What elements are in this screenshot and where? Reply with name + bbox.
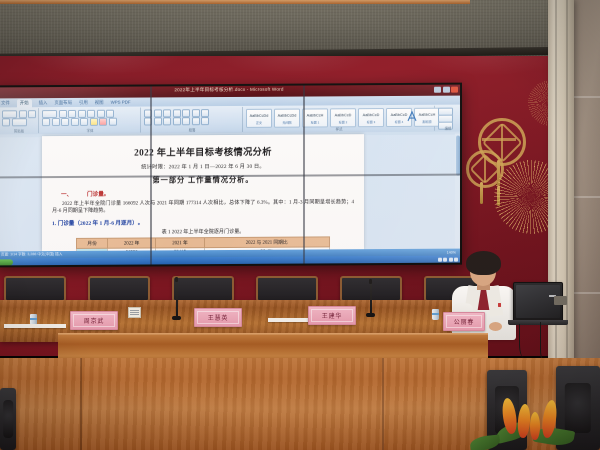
tab-home[interactable]: 开始: [17, 99, 32, 107]
style-preview: AaBbCcD: [331, 113, 355, 117]
conference-chair[interactable]: [88, 276, 150, 302]
vertical-scrollbar[interactable]: [455, 134, 460, 249]
style-name: 无间隔: [275, 120, 299, 124]
tray-volume-icon[interactable]: [443, 257, 447, 261]
start-button[interactable]: [0, 259, 13, 265]
style-preview: AaBbCcH: [303, 113, 327, 117]
conference-chair[interactable]: [4, 276, 66, 302]
document-subtitle: 统计时限：2022 年 1 月 1 日—2022 年 6 月 30 日。: [52, 161, 354, 171]
microphone-gooseneck: [176, 280, 178, 318]
group-label-editing: 编辑: [445, 126, 452, 131]
style-item[interactable]: AaBbCcD 标题 3: [358, 108, 384, 127]
clear-formatting-icon[interactable]: [87, 110, 95, 118]
video-wall[interactable]: 2022年上半年目标考核分析.docx - Microsoft Word 文件 …: [0, 83, 462, 268]
name-placard: 王慧英: [194, 308, 242, 327]
change-styles-icon: [407, 111, 419, 122]
style-name: 标题 3: [359, 120, 383, 124]
col-header-2022: 2022 年: [108, 238, 156, 248]
increase-indent-icon[interactable]: [182, 109, 190, 117]
superscript-icon[interactable]: [71, 118, 79, 126]
shading-icon[interactable]: [192, 117, 200, 125]
tab-references[interactable]: 引用: [79, 99, 88, 105]
col-header-month: 月份: [77, 238, 108, 248]
window-controls[interactable]: [434, 86, 458, 92]
conference-chair[interactable]: [172, 276, 234, 302]
borders-icon[interactable]: [201, 117, 209, 125]
shrink-font-icon[interactable]: [78, 110, 86, 118]
flower-bloom: [530, 412, 540, 440]
knot-tassel: [480, 182, 483, 204]
grow-font-icon[interactable]: [68, 110, 76, 118]
style-item[interactable]: AaBbCcH 标题 1: [302, 108, 328, 127]
group-label-font: 字体: [87, 128, 94, 133]
tray-input-method-icon[interactable]: [449, 257, 453, 261]
multilevel-list-icon[interactable]: [163, 109, 171, 117]
underline-icon[interactable]: [42, 118, 50, 126]
style-preview: AaBbCcDd: [247, 113, 271, 117]
style-name: 标题 2: [331, 120, 355, 124]
style-item[interactable]: AaBbCcDd 正文: [246, 109, 272, 128]
scrollbar-thumb[interactable]: [456, 136, 460, 176]
style-name: 正文: [247, 120, 271, 124]
document-body: 2022 年上半年目标考核情况分析 统计时限：2022 年 1 月 1 日—20…: [52, 143, 354, 259]
align-right-icon[interactable]: [163, 117, 171, 125]
document-papers: [4, 324, 66, 328]
ribbon-group-styles[interactable]: AaBbCcDd 正文 AaBbCcDd 无间隔 AaBbCcH 标题 1 Aa…: [244, 106, 435, 132]
loudspeaker: [0, 388, 16, 450]
subscript-icon[interactable]: [61, 118, 69, 126]
ribbon[interactable]: 剪贴板: [0, 105, 460, 136]
placard-name: 周京武: [84, 316, 104, 325]
close-icon[interactable]: [451, 86, 458, 92]
group-label-styles: 样式: [336, 126, 343, 131]
conference-room-photo: 2022年上半年目标考核分析.docx - Microsoft Word 文件 …: [0, 0, 600, 450]
document-section-heading: 一、 门诊量。: [52, 188, 354, 198]
justify-icon[interactable]: [173, 117, 181, 125]
presenter-hand: [489, 322, 502, 331]
ribbon-group-editing[interactable]: 编辑: [436, 106, 460, 131]
group-label-clipboard: 剪贴板: [14, 128, 24, 133]
document-page[interactable]: 2022 年上半年目标考核情况分析 统计时限：2022 年 1 月 1 日—20…: [42, 134, 364, 251]
font-color-icon[interactable]: [99, 118, 107, 126]
font-family-select[interactable]: [42, 110, 57, 118]
tray-network-icon[interactable]: [438, 257, 442, 261]
ribbon-group-paragraph[interactable]: 段落: [142, 107, 243, 133]
placard-name: 公丽春: [454, 317, 474, 326]
text-effects-icon[interactable]: [109, 118, 117, 126]
strikethrough-icon[interactable]: [52, 118, 60, 126]
tray-clock-icon[interactable]: [454, 257, 458, 261]
tab-file[interactable]: 文件: [1, 100, 10, 106]
tab-view[interactable]: 视图: [95, 99, 104, 105]
zoom-level[interactable]: 140%: [447, 250, 456, 254]
group-label-paragraph: 段落: [189, 127, 196, 132]
font-size-select[interactable]: [59, 110, 67, 118]
show-marks-icon[interactable]: [201, 109, 209, 117]
table-caption: 表 1 2022 年上半年全院逐月门诊量。: [52, 227, 354, 236]
placard-name: 王慧英: [208, 313, 228, 322]
video-wall-screen: 2022年上半年目标考核分析.docx - Microsoft Word 文件 …: [0, 85, 460, 266]
microphone-gooseneck: [370, 282, 372, 315]
document-subsection-heading: 1. 门诊量（2022 年 1 月-6 月逐月）。: [52, 217, 354, 227]
format-painter-icon[interactable]: [2, 118, 10, 126]
decrease-indent-icon[interactable]: [173, 109, 181, 117]
paste-button[interactable]: [2, 110, 17, 118]
desk-card-holder: [128, 307, 141, 318]
conference-chair[interactable]: [256, 276, 318, 302]
system-tray[interactable]: [438, 257, 461, 261]
clipboard-icon[interactable]: [12, 118, 27, 126]
col-header-2021: 2021 年: [156, 238, 204, 248]
name-placard: 王建华: [308, 306, 356, 325]
windows-taskbar[interactable]: [0, 256, 460, 266]
name-placard: 公丽春: [443, 312, 485, 331]
change-styles-button[interactable]: [406, 109, 420, 123]
section-number: 一、: [61, 192, 72, 198]
line-spacing-icon[interactable]: [182, 117, 190, 125]
style-item[interactable]: AaBbCcD 标题 2: [330, 108, 356, 127]
maximize-icon[interactable]: [443, 86, 450, 92]
presenter-hair: [466, 251, 501, 275]
align-center-icon[interactable]: [154, 117, 162, 125]
window-title: 2022年上半年目标考核分析.docx - Microsoft Word: [174, 87, 283, 94]
copy-icon[interactable]: [28, 110, 36, 118]
id-badge: [498, 303, 501, 307]
style-name: 标题 1: [303, 120, 327, 124]
italic-icon[interactable]: [106, 110, 114, 118]
water-cup: [432, 309, 439, 320]
sort-icon[interactable]: [192, 109, 200, 117]
style-item[interactable]: AaBbCcDd 无间隔: [274, 109, 300, 128]
cut-icon[interactable]: [19, 110, 27, 118]
microphone-head-icon: [369, 279, 372, 284]
style-preview: AaBbCcD: [359, 113, 383, 117]
status-text: 页面: 1/14 字数: 3,286 中文(中国) 插入: [1, 252, 62, 257]
microphone-head-icon: [175, 277, 178, 282]
tab-layout[interactable]: 页面布局: [54, 99, 72, 105]
chinese-knot-bar: [482, 138, 516, 141]
tab-wps-pdf[interactable]: WPS PDF: [111, 100, 131, 105]
microphone-cable: [519, 324, 532, 358]
text-highlight-icon[interactable]: [90, 118, 98, 126]
section-title: 门诊量。: [87, 192, 109, 198]
document-paragraph: 2022 年上半年全院门诊量 166092 人次与 2021 年同期 17731…: [52, 199, 354, 216]
tab-insert[interactable]: 插入: [39, 100, 48, 106]
change-case-icon[interactable]: [80, 118, 88, 126]
minimize-icon[interactable]: [434, 86, 441, 92]
wall-latch-hardware: [554, 296, 567, 305]
placard-name: 王建华: [322, 311, 342, 320]
bold-icon[interactable]: [97, 110, 105, 118]
document-title: 2022 年上半年目标考核情况分析: [52, 143, 354, 159]
name-placard: 周京武: [70, 311, 118, 330]
numbering-icon[interactable]: [154, 109, 162, 117]
ribbon-group-clipboard[interactable]: 剪贴板: [0, 108, 39, 133]
front-desk-edge: [0, 0, 470, 4]
style-preview: AaBbCcDd: [275, 113, 299, 117]
ribbon-group-font[interactable]: 字体: [40, 108, 141, 134]
